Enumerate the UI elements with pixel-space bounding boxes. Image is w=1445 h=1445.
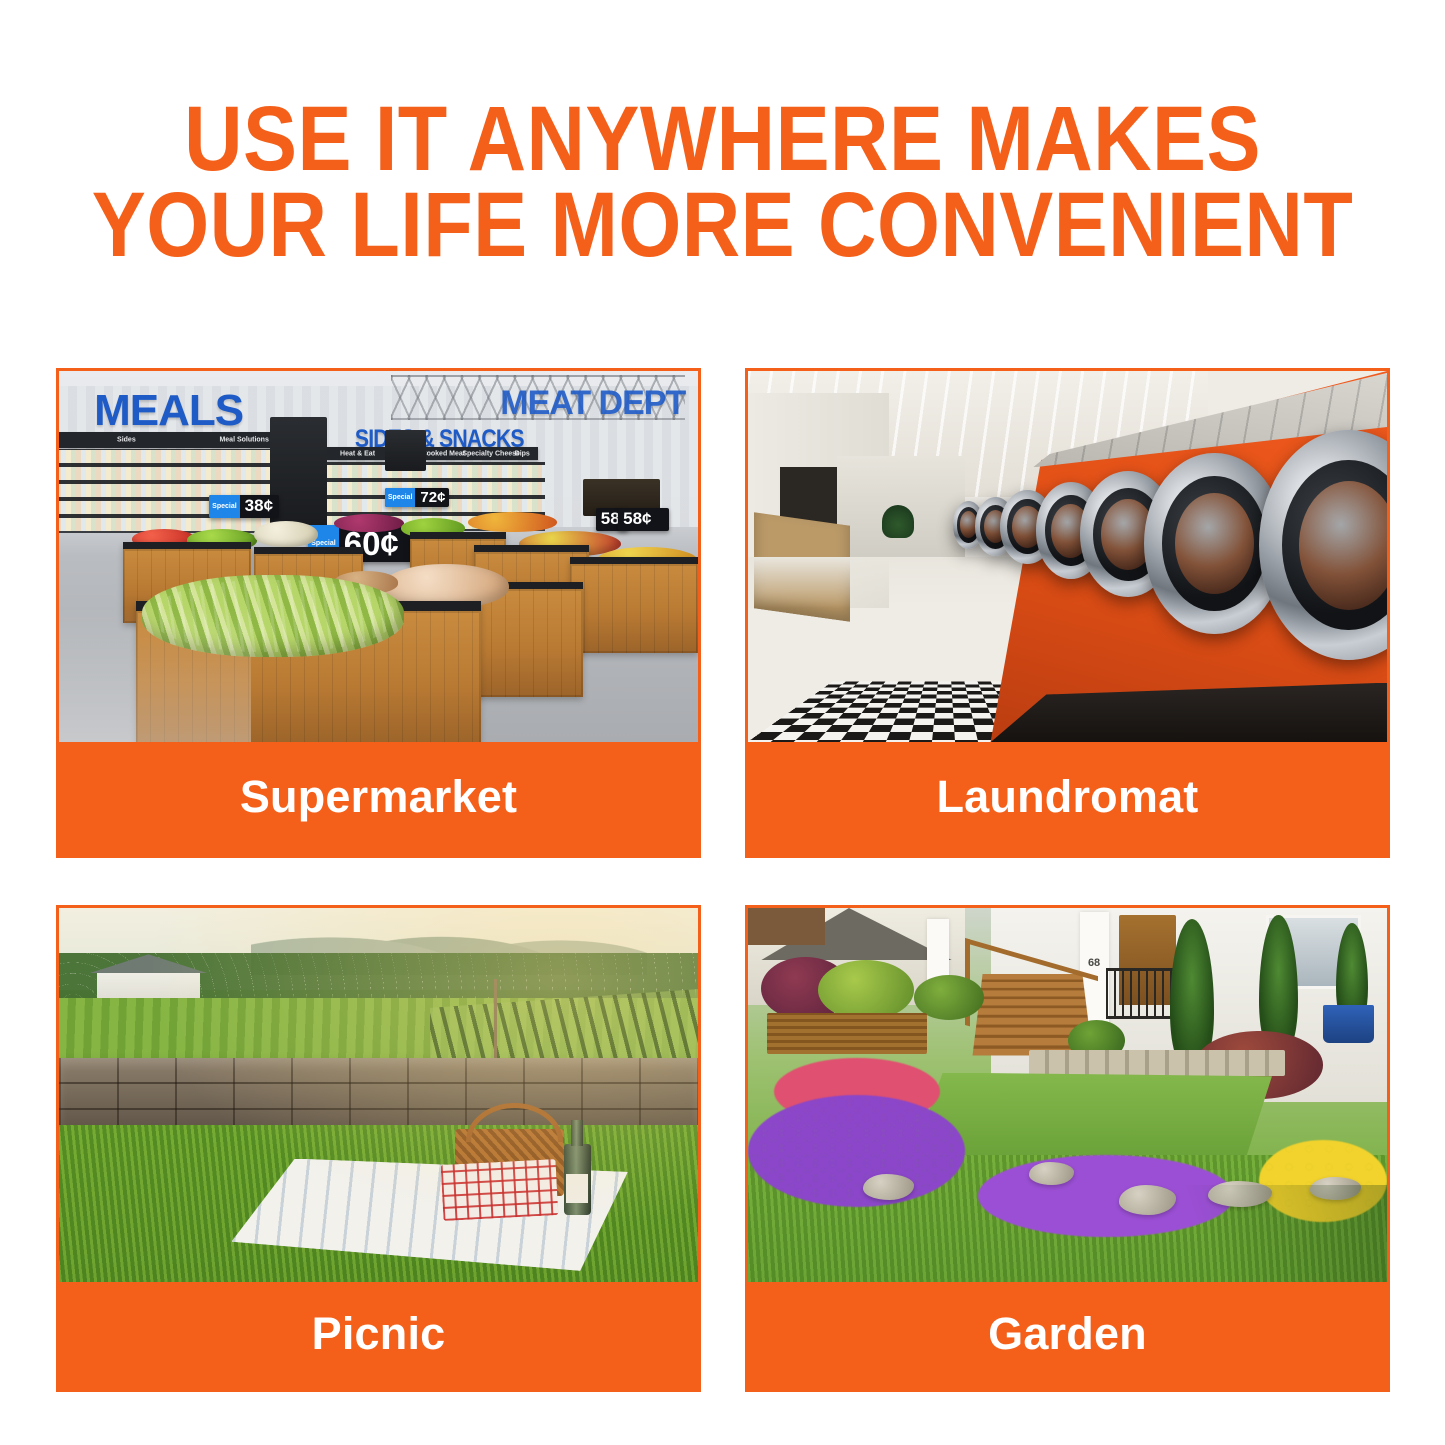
produce-mixed bbox=[468, 512, 557, 532]
shelf-label-meal-solutions: Meal Solutions bbox=[219, 436, 268, 443]
flowerbed-purple-left bbox=[748, 1095, 965, 1207]
supermarket-photo: MEALS SIDES & SNACKS MEAT DEPT Sides Mea… bbox=[59, 371, 698, 742]
page-title: USE IT ANYWHERE MAKES YOUR LIFE MORE CON… bbox=[87, 96, 1359, 268]
potted-plant bbox=[882, 505, 914, 538]
price-tag-value-2: 72¢ bbox=[415, 489, 448, 506]
shelf-header-rail-left: Sides Meal Solutions bbox=[59, 432, 283, 448]
fence-pole bbox=[494, 979, 497, 1061]
grocery-shelf-left bbox=[59, 449, 289, 533]
card-caption-garden: Garden bbox=[748, 1282, 1387, 1389]
picnic-photo bbox=[59, 908, 698, 1282]
shed-roof bbox=[748, 908, 825, 945]
checkered-cloth bbox=[441, 1159, 559, 1221]
laundromat-photo bbox=[748, 371, 1387, 742]
shelf-header-rail-right: Heat & Eat Fully Cooked Meat Specialty C… bbox=[327, 447, 538, 460]
lawn-shadow bbox=[1093, 1185, 1387, 1282]
shelf-label-specialty-cheese: Specialty Cheese bbox=[462, 450, 520, 457]
card-caption-supermarket: Supermarket bbox=[59, 742, 698, 855]
price-tag-label-1: Special bbox=[209, 495, 240, 517]
use-case-card-garden[interactable]: 68 Garden bbox=[745, 905, 1390, 1392]
price-tag-label-2: Special bbox=[385, 488, 416, 507]
use-case-card-picnic[interactable]: Picnic bbox=[56, 905, 701, 1392]
meals-sign: MEALS bbox=[94, 386, 243, 436]
shelf-label-heat-and-eat: Heat & Eat bbox=[340, 450, 375, 457]
produce-cauliflower bbox=[254, 521, 318, 547]
produce-berries bbox=[334, 514, 404, 533]
use-case-grid: MEALS SIDES & SNACKS MEAT DEPT Sides Mea… bbox=[56, 368, 1390, 1392]
store-floor-reflection bbox=[59, 608, 251, 742]
price-tag-38: Special 38¢ bbox=[209, 495, 279, 517]
shelf-label-dips: Dips bbox=[515, 450, 530, 457]
blue-bucket bbox=[1323, 1005, 1374, 1042]
wooden-planter bbox=[767, 1013, 927, 1054]
card-caption-picnic: Picnic bbox=[59, 1282, 698, 1389]
price-tag-58-b: 58¢ bbox=[618, 508, 669, 530]
shelf-label-sides: Sides bbox=[117, 436, 136, 443]
meat-dept-sign: MEAT DEPT bbox=[500, 384, 685, 423]
garden-rock-2 bbox=[1029, 1162, 1074, 1184]
stone-retaining-wall bbox=[1029, 1050, 1285, 1076]
price-tag-value-1: 38¢ bbox=[240, 496, 278, 516]
lawn-upper bbox=[914, 1073, 1272, 1167]
page-title-line-2: YOUR LIFE MORE CONVENIENT bbox=[87, 182, 1359, 268]
green-shrub-1 bbox=[818, 960, 914, 1020]
price-tag-value-5: 58¢ bbox=[618, 509, 656, 529]
cooler-unit-2 bbox=[385, 430, 427, 471]
page-title-line-1: USE IT ANYWHERE MAKES bbox=[87, 96, 1359, 182]
price-tag-72: Special 72¢ bbox=[385, 488, 449, 507]
house-number: 68 bbox=[1088, 957, 1100, 969]
use-case-card-supermarket[interactable]: MEALS SIDES & SNACKS MEAT DEPT Sides Mea… bbox=[56, 368, 701, 858]
wine-bottle bbox=[564, 1144, 591, 1215]
use-case-card-laundromat[interactable]: Laundromat bbox=[745, 368, 1390, 858]
produce-bin-5 bbox=[570, 557, 698, 653]
card-caption-laundromat: Laundromat bbox=[748, 742, 1387, 855]
garden-rock-1 bbox=[863, 1174, 914, 1200]
garden-photo: 68 bbox=[748, 908, 1387, 1282]
